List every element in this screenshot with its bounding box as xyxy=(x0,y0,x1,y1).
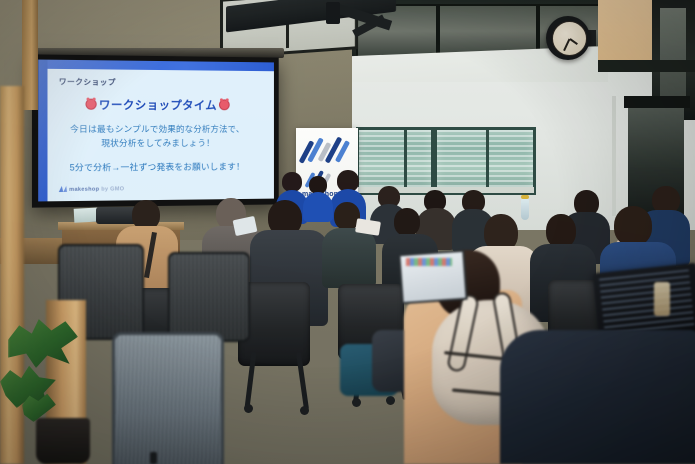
chair-leg xyxy=(150,452,157,464)
ceiling-speaker xyxy=(326,2,340,24)
slide-body-line-3: 5分で分析→一社ずつ発表をお願いします！ xyxy=(38,160,274,175)
makeshop-logo-icon xyxy=(59,186,67,192)
attendee-head xyxy=(546,214,576,248)
office-chair xyxy=(168,252,250,342)
wall-ledge xyxy=(598,60,695,72)
wood-pillar xyxy=(0,86,24,464)
wood-pillar xyxy=(22,0,38,110)
laptop-screen-content xyxy=(406,258,452,266)
attendee-head xyxy=(614,206,652,246)
chair-caster xyxy=(352,398,361,407)
chair-caster xyxy=(244,404,253,413)
drink-bottle xyxy=(654,282,670,316)
window-blind xyxy=(437,130,533,192)
alarm-clock-icon xyxy=(86,99,97,110)
plant-pot xyxy=(36,418,90,464)
projection-screen: ワークショップ ワークショップタイム 今日は最もシンプルで効果的な分析方法で、 … xyxy=(32,54,279,207)
foreground-mesh-chair xyxy=(112,332,224,464)
slide-heading-text: ワークショップタイム xyxy=(99,100,217,113)
window-mullion xyxy=(404,127,407,189)
doorway-header xyxy=(624,96,690,108)
wall-clock-icon xyxy=(552,21,587,56)
laptop-screen-content xyxy=(599,270,695,337)
clock-hour-hand xyxy=(569,38,578,45)
seminar-room-photo: ワークショップ ワークショップタイム 今日は最もシンプルで効果的な分析方法で、 … xyxy=(0,0,695,464)
slide-body-line-1: 今日は最もシンプルで効果的な分析方法で、 xyxy=(38,123,274,137)
window-pane xyxy=(434,127,536,195)
navy-jacket xyxy=(500,330,695,464)
window-blind xyxy=(359,130,431,192)
slide-top-band xyxy=(47,60,273,72)
attendee-body xyxy=(322,228,376,288)
upper-door-glass xyxy=(660,8,686,103)
slide-logo: makeshop by GMO xyxy=(59,185,124,193)
staff-head xyxy=(282,172,302,192)
staff-body xyxy=(303,192,333,222)
slide-logo-suffix: by GMO xyxy=(101,186,124,192)
chair-caster xyxy=(300,406,309,415)
clock-minute-hand xyxy=(564,39,571,51)
slide-body-line-2: 現状分析をしてみましょう！ xyxy=(38,137,274,151)
alarm-clock-icon xyxy=(219,99,230,110)
chair-caster xyxy=(386,396,395,405)
presentation-slide: ワークショップ ワークショップタイム 今日は最もシンプルで効果的な分析方法で、 … xyxy=(38,60,274,202)
window-pane xyxy=(356,127,434,195)
window-mullion xyxy=(486,127,489,189)
slide-logo-text: makeshop xyxy=(69,187,99,193)
water-bottle xyxy=(521,198,529,220)
slide-heading: ワークショップタイム xyxy=(38,96,274,113)
slide-kicker-label: ワークショップ xyxy=(59,76,116,88)
bottle-cap xyxy=(521,195,529,199)
attendee-head xyxy=(394,208,420,236)
